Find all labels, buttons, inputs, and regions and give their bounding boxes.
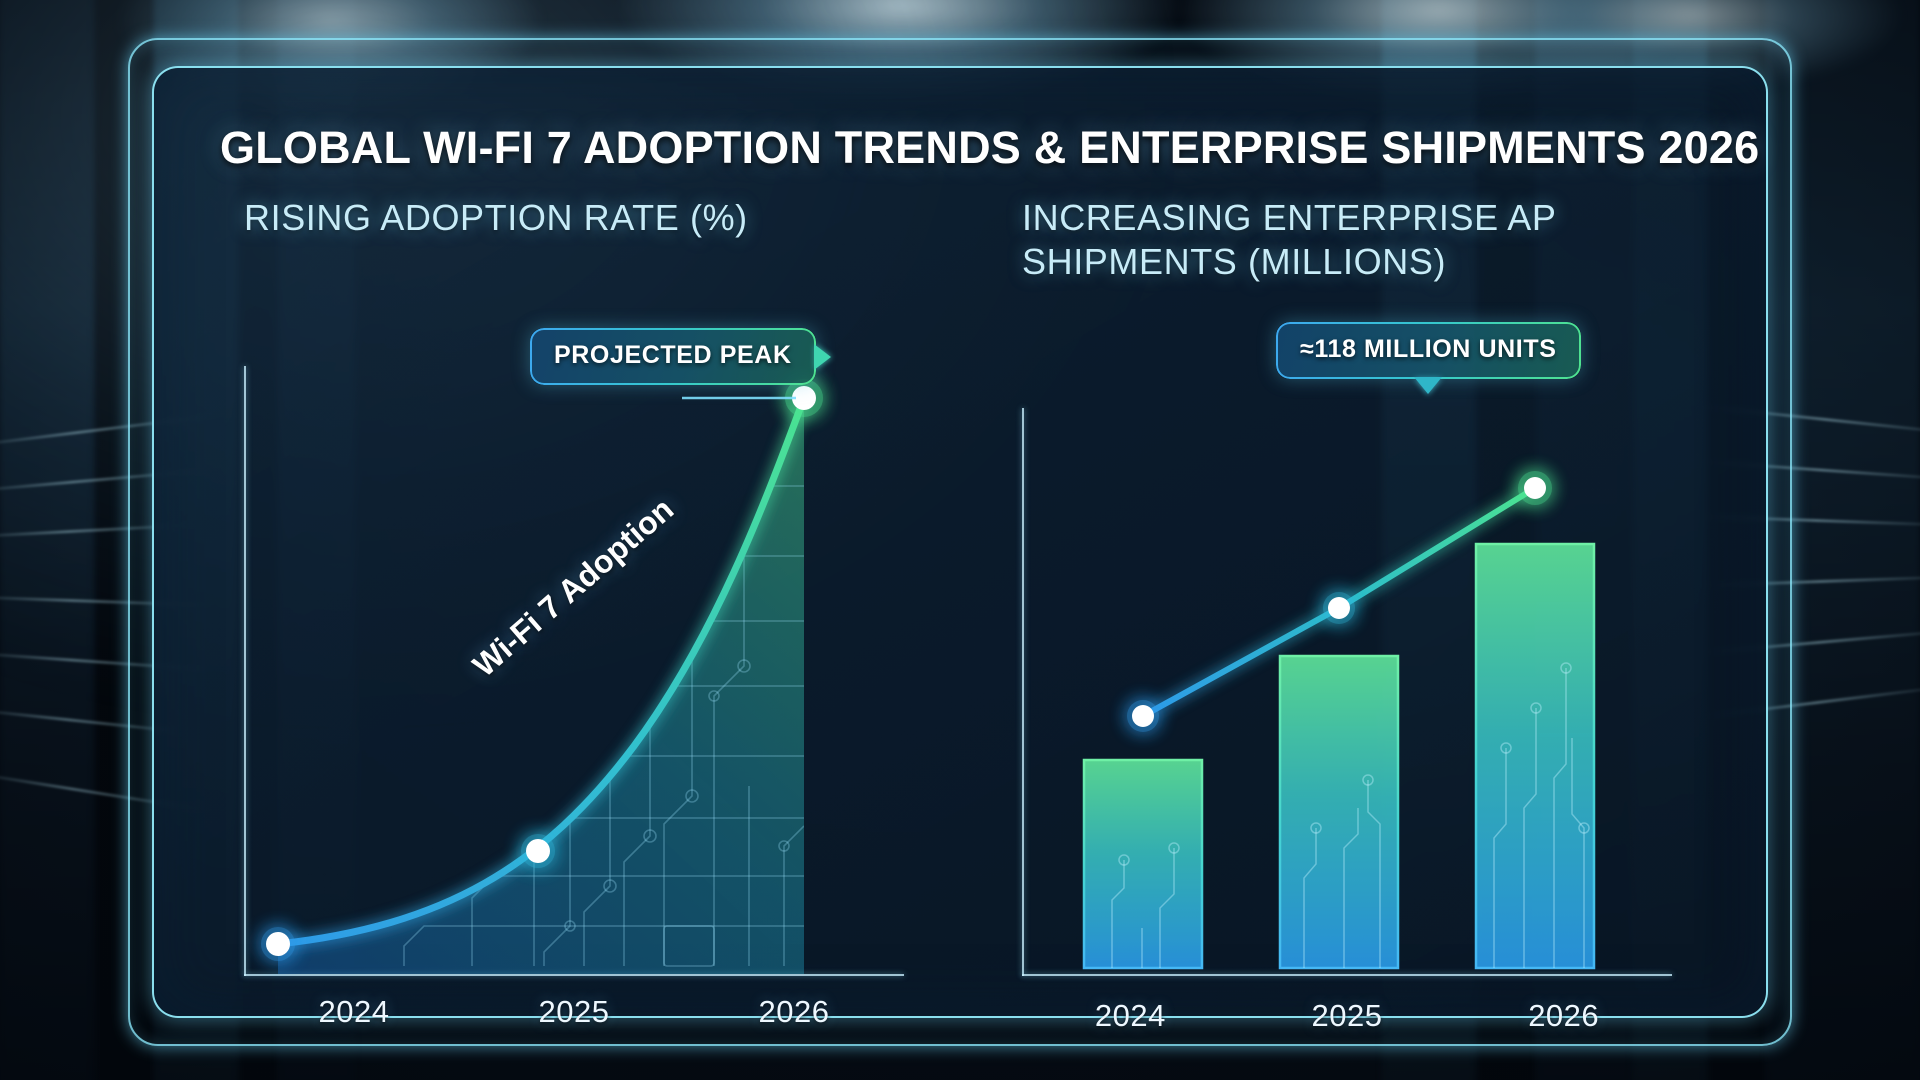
x-axis-ticks-right: 2024 2025 2026 xyxy=(1022,998,1672,1034)
data-point-marker xyxy=(521,834,555,868)
panel-adoption-rate: RISING ADOPTION RATE (%) xyxy=(192,196,952,996)
adoption-curve-svg xyxy=(244,366,904,976)
data-point-marker-peak xyxy=(1518,471,1552,505)
bar-2024 xyxy=(1084,760,1202,968)
badge-projected-peak-text: PROJECTED PEAK xyxy=(554,341,792,369)
data-point-marker xyxy=(1323,592,1355,624)
badge-units-text: ≈118 MILLION UNITS xyxy=(1300,335,1557,363)
badge-projected-peak[interactable]: PROJECTED PEAK xyxy=(530,328,816,385)
x-tick-2024: 2024 xyxy=(1022,998,1239,1034)
x-tick-2025: 2025 xyxy=(1239,998,1456,1034)
data-point-marker xyxy=(1127,700,1159,732)
panel-ap-shipments: INCREASING ENTERPRISE AP SHIPMENTS (MILL… xyxy=(992,196,1732,996)
bar-2026 xyxy=(1476,544,1594,968)
badge-tail-down-icon xyxy=(1414,377,1442,394)
x-tick-2026: 2026 xyxy=(1455,998,1672,1034)
x-tick-2024: 2024 xyxy=(244,994,464,1030)
line-area-chart-adoption: Wi-Fi 7 Adoption PROJECTED PEAK 2024 202… xyxy=(244,366,904,976)
shipments-svg xyxy=(992,408,1672,976)
badge-tail-right-icon xyxy=(814,344,831,370)
x-tick-2025: 2025 xyxy=(464,994,684,1030)
panel-title-adoption: RISING ADOPTION RATE (%) xyxy=(244,196,904,240)
badge-118-million-units[interactable]: ≈118 MILLION UNITS xyxy=(1276,322,1581,379)
x-axis-ticks-left: 2024 2025 2026 xyxy=(244,994,904,1030)
data-point-marker xyxy=(261,927,295,961)
bar-chart-shipments: ≈118 MILLION UNITS 2024 2025 2026 xyxy=(992,408,1672,976)
page-title: GLOBAL WI-FI 7 ADOPTION TRENDS & ENTERPR… xyxy=(220,122,1700,174)
panel-title-shipments: INCREASING ENTERPRISE AP SHIPMENTS (MILL… xyxy=(1022,196,1642,284)
x-tick-2026: 2026 xyxy=(684,994,904,1030)
bar-2025 xyxy=(1280,656,1398,968)
